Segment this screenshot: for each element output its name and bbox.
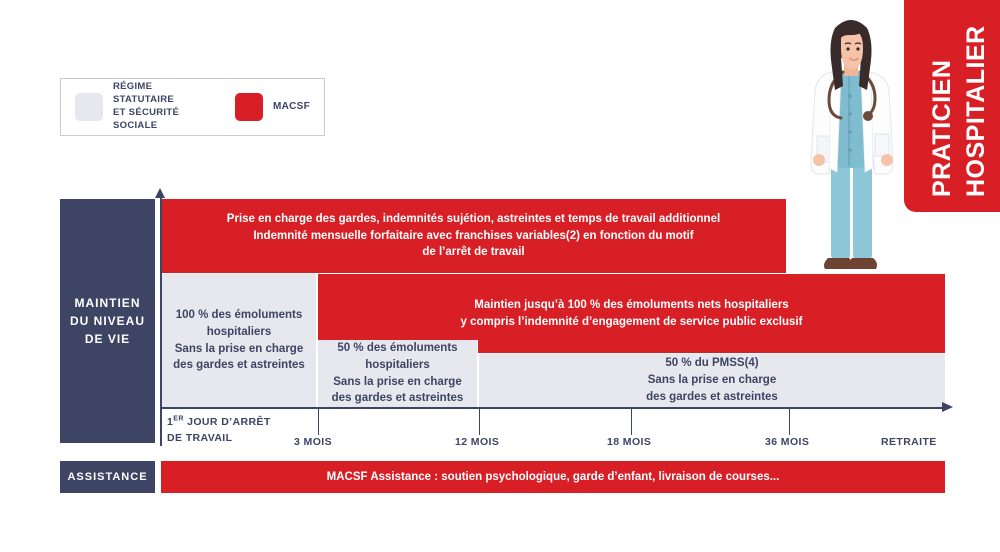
x-axis-label-2: 12 MOIS [455,436,499,448]
y-axis-arrow-icon [155,188,165,198]
x-axis-tick-4 [789,408,790,435]
x-axis-tick-3 [631,408,632,435]
category-tab-line-1: PRATICIEN [930,60,955,197]
legend-label-regime-statutaire: RÉGIME STATUTAIRE ET SÉCURITÉ SOCIALE [113,81,209,132]
legend-item-regime-statutaire: RÉGIME STATUTAIRE ET SÉCURITÉ SOCIALE [75,81,209,132]
band-regime-100-emoluments: 100 % des émoluments hospitaliers Sans l… [161,274,317,407]
band-macsf-maintien-100-text: Maintien jusqu’à 100 % des émoluments ne… [453,297,811,330]
legend-swatch-grey-icon [75,93,103,121]
row-label-assistance: ASSISTANCE [60,461,155,493]
legend-item-macsf: MACSF [235,93,310,121]
legend: RÉGIME STATUTAIRE ET SÉCURITÉ SOCIALE MA… [60,78,325,136]
category-tab-line-2: HOSPITALIER [964,25,989,197]
x-axis-label-5: RETRAITE [881,436,937,448]
category-tab-praticien-hospitalier: PRATICIEN HOSPITALIER [904,0,1000,212]
category-tab-text-wrap: PRATICIEN HOSPITALIER [904,0,1000,212]
legend-swatch-red-icon [235,93,263,121]
band-regime-100-emoluments-text: 100 % des émoluments hospitaliers Sans l… [165,307,313,374]
x-axis-arrow-icon [942,402,953,412]
row-label-maintien-text: MAINTIEN DU NIVEAU DE VIE [70,294,145,348]
x-axis-line [161,407,945,409]
x-axis-label-0: 1ER JOUR D’ARRÊT DE TRAVAIL [167,414,271,447]
x-axis-tick-2 [479,408,480,435]
band-macsf-assistance-text: MACSF Assistance : soutien psychologique… [327,471,780,483]
row-label-maintien-du-niveau-de-vie: MAINTIEN DU NIVEAU DE VIE [60,199,155,443]
band-regime-50-emoluments: 50 % des émoluments hospitaliers Sans la… [318,340,478,407]
x-axis-label-1: 3 MOIS [294,436,332,448]
band-macsf-prise-en-charge-text: Prise en charge des gardes, indemnités s… [219,211,728,261]
x-axis-label-4: 36 MOIS [765,436,809,448]
legend-label-macsf: MACSF [273,100,310,114]
band-regime-50-pmss: 50 % du PMSS(4) Sans la prise en charge … [479,354,945,407]
infographic-canvas: PRATICIEN HOSPITALIER [0,0,1000,552]
x-axis-label-3: 18 MOIS [607,436,651,448]
x-axis-tick-1 [318,408,319,435]
band-macsf-assistance: MACSF Assistance : soutien psychologique… [161,461,945,493]
band-regime-50-pmss-text: 50 % du PMSS(4) Sans la prise en charge … [638,355,786,405]
row-label-assistance-text: ASSISTANCE [67,471,147,483]
female-doctor-illustration [795,8,905,276]
band-regime-50-emoluments-text: 50 % des émoluments hospitaliers Sans la… [324,340,472,407]
band-macsf-prise-en-charge: Prise en charge des gardes, indemnités s… [161,199,786,273]
